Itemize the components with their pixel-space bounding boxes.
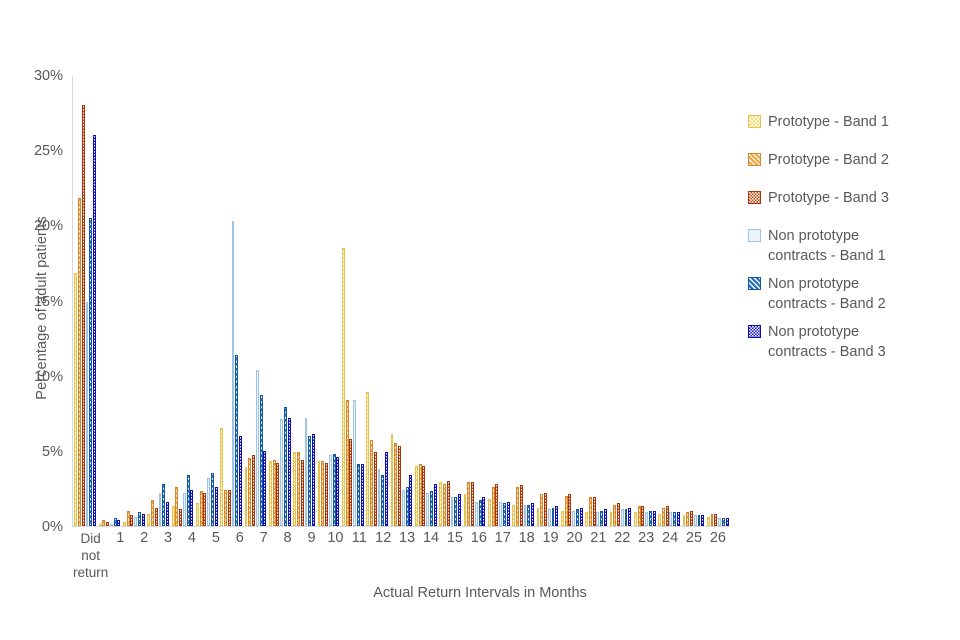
bar[interactable] [422,466,425,526]
bar[interactable] [726,518,729,526]
bar[interactable] [613,505,616,526]
plot-area: 0%5%10%15%20%25%30% [72,76,730,527]
bar-group [560,76,584,526]
bar-group [438,76,462,526]
bar[interactable] [488,499,491,526]
legend-swatch-icon [748,153,761,166]
x-tick-label: 22 [610,530,634,581]
bar[interactable] [561,511,564,526]
bar[interactable] [361,464,364,526]
x-axis-tick-labels: Did notreturn123456789101112131415161718… [73,530,730,581]
y-tick-label: 20% [34,218,72,234]
x-tick-label: 26 [706,530,730,581]
legend-swatch-icon [748,115,761,128]
bar[interactable] [439,482,442,526]
bar[interactable] [568,494,571,526]
bar[interactable] [645,512,648,526]
bar-group [341,76,365,526]
bar[interactable] [220,428,223,526]
bar[interactable] [512,505,515,526]
bar[interactable] [263,451,266,526]
bar[interactable] [378,469,381,526]
bar[interactable] [183,493,186,526]
bar[interactable] [467,482,470,526]
bar[interactable] [503,503,506,526]
bar[interactable] [273,460,276,526]
bar[interactable] [531,503,534,526]
bar[interactable] [147,514,150,526]
x-tick-label: 4 [180,530,204,581]
bar[interactable] [293,452,296,526]
legend-item-label: Prototype - Band 3 [768,188,889,208]
bar[interactable] [276,463,279,526]
bar[interactable] [127,511,130,526]
bar[interactable] [701,515,704,526]
bar[interactable] [492,487,495,526]
bar[interactable] [151,500,154,526]
bar[interactable] [308,436,311,526]
bar[interactable] [336,457,339,526]
bar-group [511,76,535,526]
bar[interactable] [666,506,669,526]
bar[interactable] [673,512,676,526]
legend-item[interactable]: Non prototypecontracts - Band 2 [748,274,953,314]
bar[interactable] [325,463,328,526]
bar[interactable] [580,508,583,526]
bar-group [195,76,219,526]
bar-group [170,76,194,526]
x-tick-label: 14 [419,530,443,581]
bar[interactable] [402,490,405,526]
bar[interactable] [228,490,231,526]
x-tick-label: 9 [300,530,324,581]
bar[interactable] [172,506,175,526]
bar[interactable] [366,392,369,526]
y-tick-label: 15% [34,294,72,310]
bar-group [681,76,705,526]
bar[interactable] [312,434,315,526]
bar[interactable] [398,446,401,526]
bar[interactable] [215,487,218,526]
legend-item-label: Non prototypecontracts - Band 1 [768,226,886,266]
bar[interactable] [471,482,474,526]
bar[interactable] [576,509,579,526]
bar[interactable] [499,502,502,526]
x-tick-label: 5 [204,530,228,581]
bar[interactable] [190,490,193,526]
bar[interactable] [245,467,248,526]
x-axis-line [72,526,730,527]
bar[interactable] [114,518,117,526]
x-tick-label: 12 [371,530,395,581]
bar[interactable] [426,493,429,526]
x-tick-label: 21 [586,530,610,581]
bar[interactable] [565,496,568,526]
x-tick-label: 2 [132,530,156,581]
x-tick-label: 3 [156,530,180,581]
legend-item[interactable]: Prototype - Band 1 [748,112,953,132]
bar[interactable] [138,512,141,526]
bar[interactable] [617,503,620,526]
bar[interactable] [628,508,631,526]
bar[interactable] [301,460,304,526]
bar[interactable] [683,515,686,526]
bar-groups [73,76,730,526]
bar[interactable] [698,515,701,526]
bar[interactable] [653,511,656,526]
bar[interactable] [454,497,457,526]
bar[interactable] [625,509,628,526]
bar[interactable] [690,511,693,526]
bar[interactable] [374,452,377,526]
bar[interactable] [430,491,433,526]
y-tick-label: 25% [34,143,72,159]
bar[interactable] [711,514,714,526]
bar-chart: Percentage of adult patients 0%5%10%15%2… [0,0,960,640]
bar-group [243,76,267,526]
y-tick-label: 0% [42,519,72,535]
bar[interactable] [211,473,214,526]
bar[interactable] [722,518,725,526]
legend-swatch-icon [748,325,761,338]
bar[interactable] [634,512,637,526]
bar[interactable] [443,484,446,526]
x-tick-label: 13 [395,530,419,581]
bar[interactable] [159,493,162,526]
bar[interactable] [224,490,227,526]
bar-group [146,76,170,526]
bar[interactable] [93,135,96,526]
bar[interactable] [342,248,345,526]
bar[interactable] [329,455,332,526]
legend-swatch-icon [748,277,761,290]
x-tick-label: 24 [658,530,682,581]
bar[interactable] [110,524,113,526]
bar[interactable] [74,273,77,526]
bar[interactable] [434,484,437,526]
bar[interactable] [662,508,665,526]
legend-item[interactable]: Prototype - Band 2 [748,150,953,170]
bar[interactable] [458,494,461,526]
bar[interactable] [353,400,356,526]
bar[interactable] [415,466,418,526]
bar[interactable] [187,475,190,526]
x-tick-label: 7 [252,530,276,581]
bar[interactable] [89,218,92,526]
bar[interactable] [284,407,287,526]
bar[interactable] [239,436,242,526]
y-tick-label: 10% [34,369,72,385]
bar[interactable] [349,439,352,526]
bar[interactable] [482,497,485,526]
bar[interactable] [82,105,85,526]
bar-group [584,76,608,526]
x-tick-label: 8 [276,530,300,581]
legend-item[interactable]: Non prototypecontracts - Band 1 [748,226,953,266]
x-tick-label: 15 [443,530,467,581]
bar[interactable] [391,434,394,526]
bar[interactable] [621,509,624,526]
x-tick-label: 1 [108,530,132,581]
bar-group [462,76,486,526]
bar[interactable] [585,512,588,526]
bar[interactable] [604,509,607,526]
bar[interactable] [86,302,89,526]
bar[interactable] [175,487,178,526]
bar-group [633,76,657,526]
legend-swatch-icon [748,229,761,242]
bar[interactable] [321,461,324,526]
bar-group [219,76,243,526]
bar-group [365,76,389,526]
bar[interactable] [669,512,672,526]
bar[interactable] [527,505,530,526]
bar[interactable] [385,452,388,526]
bar[interactable] [638,506,641,526]
legend-item-label: Non prototypecontracts - Band 2 [768,274,886,314]
bar[interactable] [555,506,558,526]
legend-item-label: Non prototypecontracts - Band 3 [768,322,886,362]
chart-legend: Prototype - Band 1Prototype - Band 2Prot… [748,112,953,370]
bar-group [706,76,730,526]
x-tick-label: 20 [563,530,587,581]
bar[interactable] [677,512,680,526]
bar[interactable] [600,511,603,526]
bar[interactable] [658,514,661,526]
bar[interactable] [409,475,412,526]
bar[interactable] [346,400,349,526]
bar[interactable] [207,478,210,526]
bar[interactable] [596,512,599,526]
bar-group [316,76,340,526]
bar[interactable] [544,493,547,526]
bar[interactable] [516,487,519,526]
bar[interactable] [102,520,105,526]
bar[interactable] [297,452,300,526]
bar[interactable] [475,502,478,526]
x-tick-label: Did notreturn [73,530,108,581]
bar[interactable] [260,395,263,526]
bar[interactable] [714,514,717,526]
bar[interactable] [552,508,555,526]
bar[interactable] [548,509,551,526]
bar[interactable] [537,508,540,526]
legend-swatch-icon [748,191,761,204]
bar[interactable] [196,503,199,526]
bar[interactable] [162,484,165,526]
bar[interactable] [134,517,137,526]
bar[interactable] [248,458,251,526]
bar[interactable] [235,355,238,526]
bar-group [268,76,292,526]
x-tick-label: 17 [491,530,515,581]
bar[interactable] [479,500,482,526]
bar[interactable] [179,509,182,526]
x-tick-label: 23 [634,530,658,581]
x-tick-label: 6 [228,530,252,581]
legend-item[interactable]: Prototype - Band 3 [748,188,953,208]
bar[interactable] [572,511,575,526]
bar[interactable] [357,464,360,526]
bar[interactable] [288,418,291,526]
bar-group [535,76,559,526]
bar[interactable] [370,440,373,526]
y-tick-label: 5% [42,444,72,460]
bar-group [122,76,146,526]
x-tick-label: 16 [467,530,491,581]
bar[interactable] [117,520,120,526]
bar[interactable] [520,485,523,526]
bar[interactable] [333,454,336,526]
bar[interactable] [381,475,384,526]
bar[interactable] [451,497,454,526]
bar[interactable] [232,221,235,526]
bar[interactable] [524,505,527,526]
bar[interactable] [610,512,613,526]
x-axis-title: Actual Return Intervals in Months [0,585,960,601]
bar[interactable] [593,497,596,526]
bar[interactable] [707,517,710,526]
bar[interactable] [540,494,543,526]
bar[interactable] [318,461,321,526]
bar-group [657,76,681,526]
legend-item-label: Prototype - Band 2 [768,150,889,170]
bar-group [292,76,316,526]
legend-item[interactable]: Non prototypecontracts - Band 3 [748,322,953,362]
bar[interactable] [130,515,133,526]
bar[interactable] [252,455,255,526]
bar-group [414,76,438,526]
bar[interactable] [123,522,126,527]
bar-group [73,76,97,526]
bar[interactable] [106,522,109,527]
bar[interactable] [464,494,467,526]
x-tick-label: 18 [515,530,539,581]
bar[interactable] [589,497,592,526]
bar[interactable] [142,514,145,526]
x-tick-label: 10 [323,530,347,581]
bar-group [487,76,511,526]
bar[interactable] [269,461,272,526]
bar[interactable] [200,491,203,526]
y-tick-label: 30% [34,68,72,84]
bar[interactable] [394,443,397,526]
bar[interactable] [203,493,206,526]
bar[interactable] [686,512,689,526]
bar-group [608,76,632,526]
bar[interactable] [641,506,644,526]
bar[interactable] [78,198,81,526]
bar[interactable] [495,484,498,526]
bar[interactable] [649,511,652,526]
bar[interactable] [280,419,283,526]
bar[interactable] [406,487,409,526]
bar[interactable] [256,370,259,526]
legend-item-label: Prototype - Band 1 [768,112,889,132]
x-tick-label: 19 [539,530,563,581]
x-tick-label: 25 [682,530,706,581]
bar[interactable] [305,418,308,526]
bar-group [97,76,121,526]
x-tick-label: 11 [347,530,371,581]
bar[interactable] [507,502,510,526]
bar[interactable] [155,508,158,526]
bar[interactable] [166,502,169,526]
bar[interactable] [694,515,697,526]
bar[interactable] [718,518,721,526]
bar[interactable] [99,524,102,526]
bar[interactable] [419,464,422,526]
bar[interactable] [447,481,450,526]
bar-group [389,76,413,526]
